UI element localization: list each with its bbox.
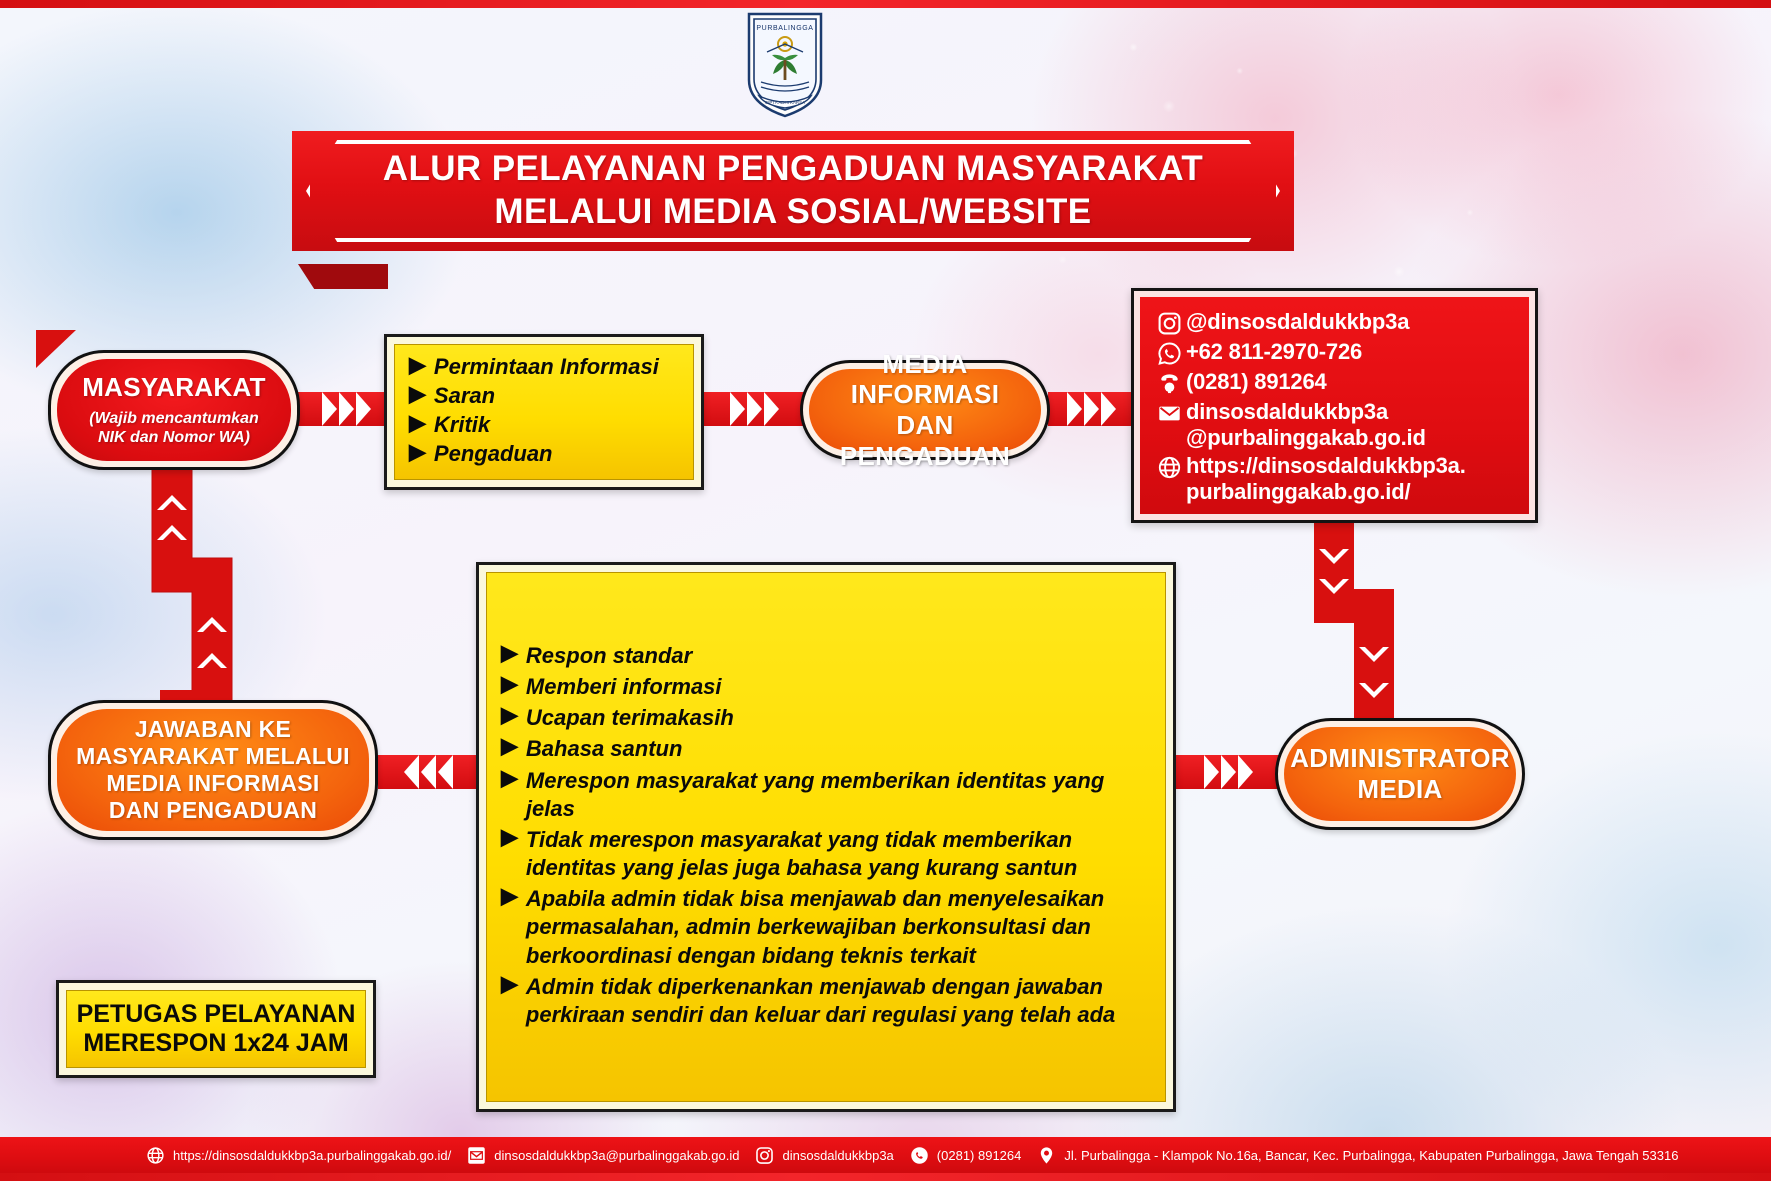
footer-email-text: dinsosdaldukkbp3a@purbalinggakab.go.id xyxy=(494,1148,739,1163)
footer-contact-bar: https://dinsosdaldukkbp3a.purbalinggakab… xyxy=(0,1137,1771,1173)
footer-website-text: https://dinsosdaldukkbp3a.purbalinggakab… xyxy=(173,1148,451,1163)
node-masyarakat-sub-line1: (Wajib mencantumkan xyxy=(89,409,259,428)
list-item: ▶ Memberi informasi xyxy=(501,673,1151,701)
admin-rules-list: ▶ Respon standar ▶ Memberi informasi ▶ U… xyxy=(487,632,1165,1042)
triangle-bullet-icon: ▶ xyxy=(501,704,518,726)
svg-text:CIPTA ADHI KARSA: CIPTA ADHI KARSA xyxy=(765,100,805,105)
triangle-bullet-icon: ▶ xyxy=(409,383,426,405)
email-icon xyxy=(1152,399,1186,426)
petugas-response-box: PETUGAS PELAYANAN MERESPON 1x24 JAM xyxy=(56,980,376,1078)
triangle-bullet-icon: ▶ xyxy=(501,673,518,695)
phone-icon xyxy=(910,1146,929,1165)
page-title-line1: ALUR PELAYANAN PENGADUAN MASYARAKAT xyxy=(383,148,1203,191)
footer-instagram[interactable]: dinsosdaldukkbp3a xyxy=(755,1146,893,1165)
chevron-right-icon xyxy=(1084,392,1099,426)
chevron-left-icon xyxy=(421,755,436,789)
triangle-bullet-icon: ▶ xyxy=(409,354,426,376)
footer-website[interactable]: https://dinsosdaldukkbp3a.purbalinggakab… xyxy=(146,1146,451,1165)
node-masyarakat-subtitle: (Wajib mencantumkan NIK dan Nomor WA) xyxy=(89,409,259,447)
footer-instagram-text: dinsosdaldukkbp3a xyxy=(782,1148,893,1163)
chevron-row xyxy=(378,755,478,789)
node-administrator-inner: ADMINISTRATOR MEDIA xyxy=(1284,727,1516,821)
instagram-icon xyxy=(1152,309,1186,336)
footer-address-text: Jl. Purbalingga - Klampok No.16a, Bancar… xyxy=(1064,1148,1678,1163)
admin-rules-inner: ▶ Respon standar ▶ Memberi informasi ▶ U… xyxy=(486,572,1166,1102)
node-masyarakat-sub-line2: NIK dan Nomor WA) xyxy=(89,428,259,447)
contact-row-phone[interactable]: (0281) 891264 xyxy=(1152,369,1519,396)
chevron-right-icon xyxy=(1101,392,1116,426)
rule-item-text: Admin tidak diperkenankan menjawab denga… xyxy=(526,973,1151,1029)
triangle-bullet-icon: ▶ xyxy=(409,412,426,434)
list-item: ▶ Bahasa santun xyxy=(501,735,1151,763)
admin-rules-box: ▶ Respon standar ▶ Memberi informasi ▶ U… xyxy=(476,562,1176,1112)
node-media-line1: MEDIA INFORMASI xyxy=(809,349,1041,410)
chevron-row xyxy=(1174,755,1282,789)
petugas-line2: MERESPON 1x24 JAM xyxy=(83,1029,348,1058)
node-masyarakat-title: MASYARAKAT xyxy=(82,372,266,403)
contact-row-email[interactable]: dinsosdaldukkbp3a @purbalinggakab.go.id xyxy=(1152,399,1519,450)
connector-masyarakat-down-to-jawaban xyxy=(140,462,250,714)
triangle-bullet-icon: ▶ xyxy=(501,735,518,757)
list-item: ▶ Saran xyxy=(409,383,679,409)
contact-row-instagram[interactable]: @dinsosdaldukkbp3a xyxy=(1152,309,1519,336)
request-item-text: Pengaduan xyxy=(434,441,679,467)
petugas-line1: PETUGAS PELAYANAN xyxy=(77,1000,356,1029)
contact-information-panel: @dinsosdaldukkbp3a +62 811-2970-726 (028… xyxy=(1131,288,1538,523)
top-red-strip xyxy=(0,0,1771,8)
page-title-line2: MELALUI MEDIA SOSIAL/WEBSITE xyxy=(383,191,1203,234)
instagram-icon xyxy=(755,1146,774,1165)
connector-request-to-media xyxy=(702,392,806,426)
list-item: ▶ Pengaduan xyxy=(409,441,679,467)
chevron-row xyxy=(296,392,396,426)
triangle-bullet-icon: ▶ xyxy=(501,642,518,664)
page-title: ALUR PELAYANAN PENGADUAN MASYARAKAT MELA… xyxy=(355,148,1231,233)
rule-item-text: Respon standar xyxy=(526,642,1151,670)
triangle-bullet-icon: ▶ xyxy=(409,441,426,463)
page-title-banner: ALUR PELAYANAN PENGADUAN MASYARAKAT MELA… xyxy=(292,131,1294,277)
node-jawaban-line2: MASYARAKAT MELALUI xyxy=(76,743,350,770)
contact-phone-text: (0281) 891264 xyxy=(1186,369,1327,395)
node-administrator-line2: MEDIA xyxy=(1357,774,1442,805)
chevron-right-icon xyxy=(747,392,762,426)
contact-whatsapp-text: +62 811-2970-726 xyxy=(1186,339,1362,365)
rule-item-text: Apabila admin tidak bisa menjawab dan me… xyxy=(526,885,1151,969)
list-item: ▶ Kritik xyxy=(409,412,679,438)
node-jawaban-line3: MEDIA INFORMASI xyxy=(106,770,319,797)
connector-masyarakat-to-request xyxy=(296,392,396,426)
location-pin-icon xyxy=(1037,1146,1056,1165)
contact-website-line1: https://dinsosdaldukkbp3a. xyxy=(1186,453,1466,479)
connector-contact-down-to-administrator xyxy=(1300,523,1410,721)
contact-panel-inner: @dinsosdaldukkbp3a +62 811-2970-726 (028… xyxy=(1140,297,1529,514)
contact-instagram-text: @dinsosdaldukkbp3a xyxy=(1186,309,1409,335)
rule-item-text: Tidak merespon masyarakat yang tidak mem… xyxy=(526,826,1151,882)
chevron-right-icon xyxy=(730,392,745,426)
node-masyarakat[interactable]: MASYARAKAT (Wajib mencantumkan NIK dan N… xyxy=(48,350,300,470)
footer-phone[interactable]: (0281) 891264 xyxy=(910,1146,1022,1165)
whatsapp-icon xyxy=(1152,339,1186,366)
node-jawaban-inner: JAWABAN KE MASYARAKAT MELALUI MEDIA INFO… xyxy=(57,709,369,831)
contact-email-text: dinsosdaldukkbp3a @purbalinggakab.go.id xyxy=(1186,399,1426,450)
list-item: ▶ Tidak merespon masyarakat yang tidak m… xyxy=(501,826,1151,882)
node-media-informasi-inner: MEDIA INFORMASI DAN PENGADUAN xyxy=(809,369,1041,451)
triangle-bullet-icon: ▶ xyxy=(501,767,518,789)
list-item: ▶ Merespon masyarakat yang memberikan id… xyxy=(501,767,1151,823)
globe-icon xyxy=(1152,453,1186,480)
telephone-icon xyxy=(1152,369,1186,396)
footer-email[interactable]: dinsosdaldukkbp3a@purbalinggakab.go.id xyxy=(467,1146,739,1165)
request-types-box: ▶ Permintaan Informasi ▶ Saran ▶ Kritik … xyxy=(384,334,704,490)
chevron-right-icon xyxy=(356,392,371,426)
triangle-bullet-icon: ▶ xyxy=(501,885,518,907)
connector-rules-to-jawaban xyxy=(378,755,478,789)
chevron-left-icon xyxy=(404,755,419,789)
chevron-row xyxy=(702,392,806,426)
contact-email-line1: dinsosdaldukkbp3a xyxy=(1186,399,1426,425)
contact-row-website[interactable]: https://dinsosdaldukkbp3a. purbalinggaka… xyxy=(1152,453,1519,504)
list-item: ▶ Ucapan terimakasih xyxy=(501,704,1151,732)
contact-email-line2: @purbalinggakab.go.id xyxy=(1186,425,1426,451)
chevron-right-icon xyxy=(1238,755,1253,789)
node-jawaban-ke-masyarakat[interactable]: JAWABAN KE MASYARAKAT MELALUI MEDIA INFO… xyxy=(48,700,378,840)
node-masyarakat-inner: MASYARAKAT (Wajib mencantumkan NIK dan N… xyxy=(57,359,291,461)
chevron-right-icon xyxy=(339,392,354,426)
triangle-bullet-icon: ▶ xyxy=(501,973,518,995)
email-icon xyxy=(467,1146,486,1165)
node-jawaban-line4: DAN PENGADUAN xyxy=(109,797,317,824)
request-item-text: Kritik xyxy=(434,412,679,438)
rule-item-text: Ucapan terimakasih xyxy=(526,704,1151,732)
bottom-red-strip xyxy=(0,1173,1771,1181)
list-item: ▶ Apabila admin tidak bisa menjawab dan … xyxy=(501,885,1151,969)
node-jawaban-line1: JAWABAN KE xyxy=(135,716,291,743)
rule-item-text: Bahasa santun xyxy=(526,735,1151,763)
node-administrator-line1: ADMINISTRATOR xyxy=(1290,743,1510,774)
list-item: ▶ Respon standar xyxy=(501,642,1151,670)
chevron-right-icon xyxy=(322,392,337,426)
request-types-inner: ▶ Permintaan Informasi ▶ Saran ▶ Kritik … xyxy=(394,344,694,480)
triangle-bullet-icon: ▶ xyxy=(501,826,518,848)
request-item-text: Permintaan Informasi xyxy=(434,354,679,380)
chevron-right-icon xyxy=(764,392,779,426)
contact-website-line2: purbalinggakab.go.id/ xyxy=(1186,479,1466,505)
contact-website-text: https://dinsosdaldukkbp3a. purbalinggaka… xyxy=(1186,453,1466,504)
svg-text:PURBALINGGA: PURBALINGGA xyxy=(756,25,813,32)
contact-row-whatsapp[interactable]: +62 811-2970-726 xyxy=(1152,339,1519,366)
banner-inner-frame: ALUR PELAYANAN PENGADUAN MASYARAKAT MELA… xyxy=(306,140,1280,242)
node-media-line2: DAN PENGADUAN xyxy=(809,410,1041,471)
request-item-text: Saran xyxy=(434,383,679,409)
chevron-right-icon xyxy=(1067,392,1082,426)
node-media-informasi[interactable]: MEDIA INFORMASI DAN PENGADUAN xyxy=(800,360,1050,460)
connector-rules-to-administrator xyxy=(1174,755,1282,789)
rule-item-text: Merespon masyarakat yang memberikan iden… xyxy=(526,767,1151,823)
request-types-list: ▶ Permintaan Informasi ▶ Saran ▶ Kritik … xyxy=(395,344,693,480)
chevron-right-icon xyxy=(1204,755,1219,789)
rule-item-text: Memberi informasi xyxy=(526,673,1151,701)
petugas-response-inner: PETUGAS PELAYANAN MERESPON 1x24 JAM xyxy=(66,990,366,1068)
footer-address: Jl. Purbalingga - Klampok No.16a, Bancar… xyxy=(1037,1146,1678,1165)
node-administrator-media[interactable]: ADMINISTRATOR MEDIA xyxy=(1275,718,1525,830)
list-item: ▶ Permintaan Informasi xyxy=(409,354,679,380)
footer-phone-text: (0281) 891264 xyxy=(937,1148,1022,1163)
purbalingga-emblem-logo: PURBALINGGA CIPTA ADHI KARSA xyxy=(737,8,833,120)
chevron-right-icon xyxy=(1221,755,1236,789)
list-item: ▶ Admin tidak diperkenankan menjawab den… xyxy=(501,973,1151,1029)
globe-icon xyxy=(146,1146,165,1165)
chevron-row xyxy=(1048,392,1134,426)
connector-media-to-contact xyxy=(1048,392,1134,426)
chevron-left-icon xyxy=(438,755,453,789)
